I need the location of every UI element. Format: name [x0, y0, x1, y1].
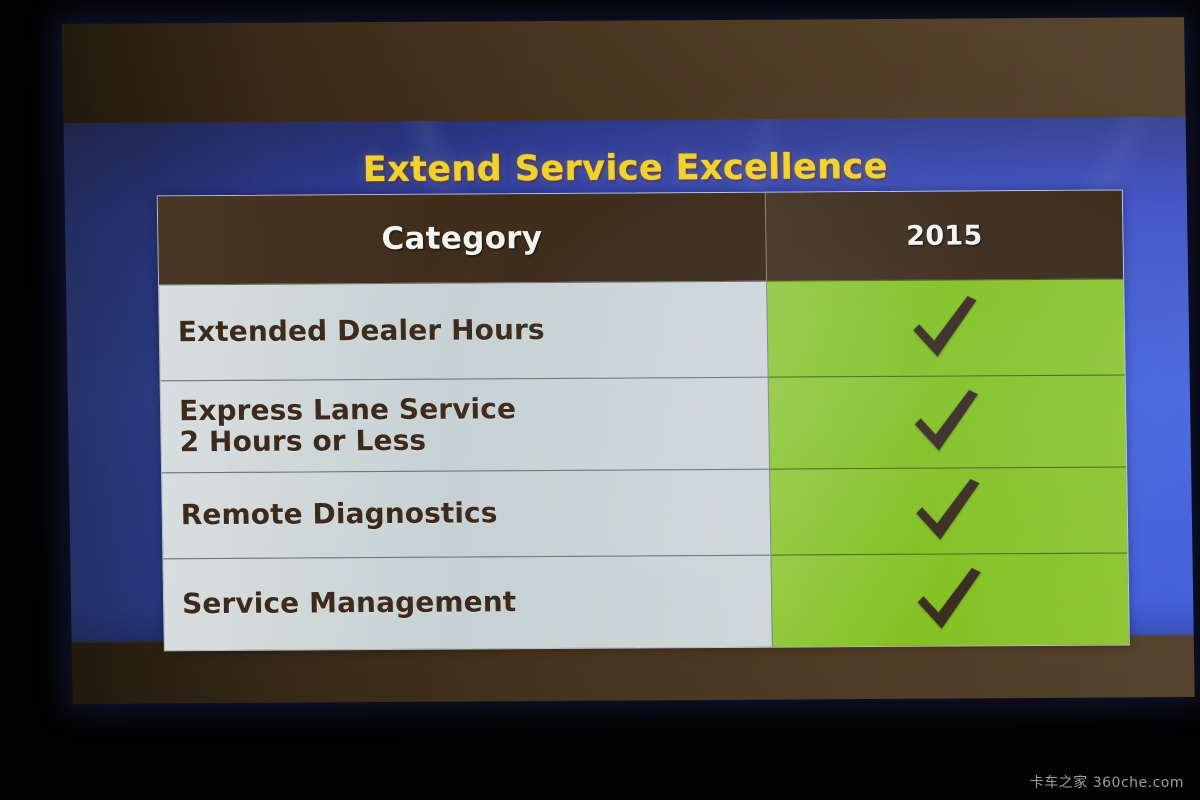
header-label-category: Category	[381, 220, 542, 257]
cell-category: Express Lane Service 2 Hours or Less	[161, 377, 770, 473]
check-mark-icon	[911, 474, 986, 548]
cell-value	[770, 466, 1127, 554]
cell-value	[769, 374, 1126, 468]
table-row: Express Lane Service 2 Hours or Less	[161, 374, 1126, 472]
check-mark-icon	[913, 563, 988, 637]
header-label-year: 2015	[906, 220, 983, 251]
header-cell-category: Category	[158, 193, 767, 285]
cell-value	[771, 552, 1128, 646]
cell-value	[767, 279, 1125, 377]
cell-category: Extended Dealer Hours	[159, 281, 769, 381]
table-row: Remote Diagnostics	[162, 466, 1127, 558]
check-mark-icon	[910, 385, 985, 459]
slide-title: Extend Service Excellence	[64, 145, 1187, 192]
category-label: Extended Dealer Hours	[178, 315, 545, 347]
check-mark-icon	[908, 291, 983, 365]
table-row: Extended Dealer Hours	[159, 279, 1125, 381]
category-label-group: Express Lane Service 2 Hours or Less	[179, 394, 517, 457]
category-label-line2: 2 Hours or Less	[179, 425, 516, 457]
table-row: Service Management	[163, 552, 1128, 650]
watermark: 卡车之家 360che.com	[1030, 772, 1184, 792]
photo-of-projected-slide: Extend Service Excellence Category 2015 …	[0, 0, 1200, 800]
category-label: Service Management	[182, 588, 517, 620]
cell-category: Remote Diagnostics	[162, 469, 771, 559]
comparison-table: Category 2015 Extended Dealer Hours	[157, 190, 1130, 652]
category-label: Remote Diagnostics	[181, 499, 498, 531]
cell-category: Service Management	[163, 555, 772, 651]
category-label-line1: Express Lane Service	[179, 394, 516, 426]
projection-screen: Extend Service Excellence Category 2015 …	[62, 17, 1195, 704]
header-cell-year: 2015	[766, 191, 1123, 281]
table-header-row: Category 2015	[158, 191, 1123, 285]
